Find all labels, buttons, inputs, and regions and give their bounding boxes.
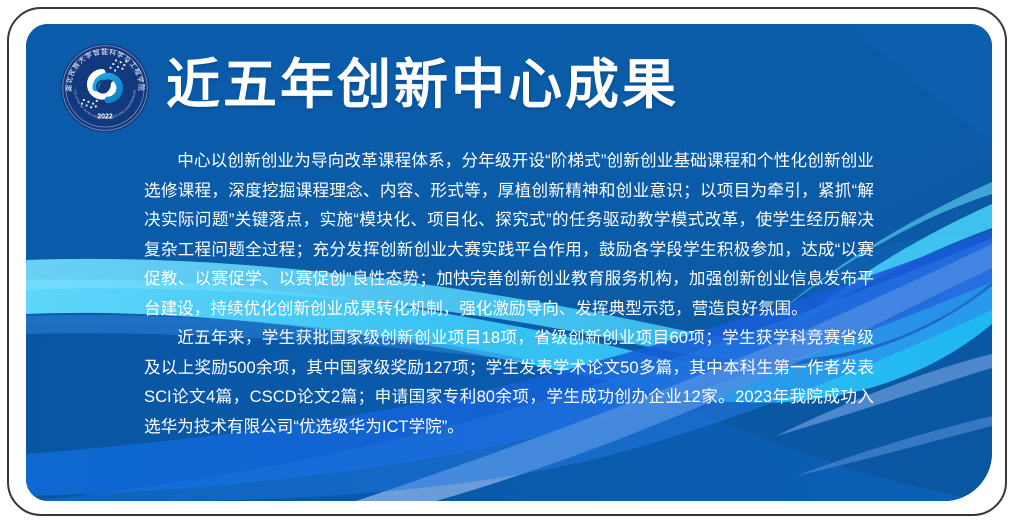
slide-header: 湖北民族大学智能科学与工程学院 COLLEGE OF INTELLIGENT S… [26, 24, 992, 142]
page-title: 近五年创新中心成果 [166, 50, 679, 120]
college-emblem-logo: 湖北民族大学智能科学与工程学院 COLLEGE OF INTELLIGENT S… [59, 42, 151, 134]
emblem-year-text: 2022 [97, 113, 112, 120]
body-text-block: 中心以创新创业为导向改革课程体系，分年级开设“阶梯式”创新创业基础课程和个性化创… [144, 146, 874, 441]
slide-root: 湖北民族大学智能科学与工程学院 COLLEGE OF INTELLIGENT S… [0, 0, 1018, 525]
slide-blue-card: 湖北民族大学智能科学与工程学院 COLLEGE OF INTELLIGENT S… [26, 24, 992, 501]
paragraph-2: 近五年来，学生获批国家级创新创业项目18项，省级创新创业项目60项；学生获学科竞… [144, 323, 874, 441]
paragraph-1: 中心以创新创业为导向改革课程体系，分年级开设“阶梯式”创新创业基础课程和个性化创… [144, 146, 874, 323]
